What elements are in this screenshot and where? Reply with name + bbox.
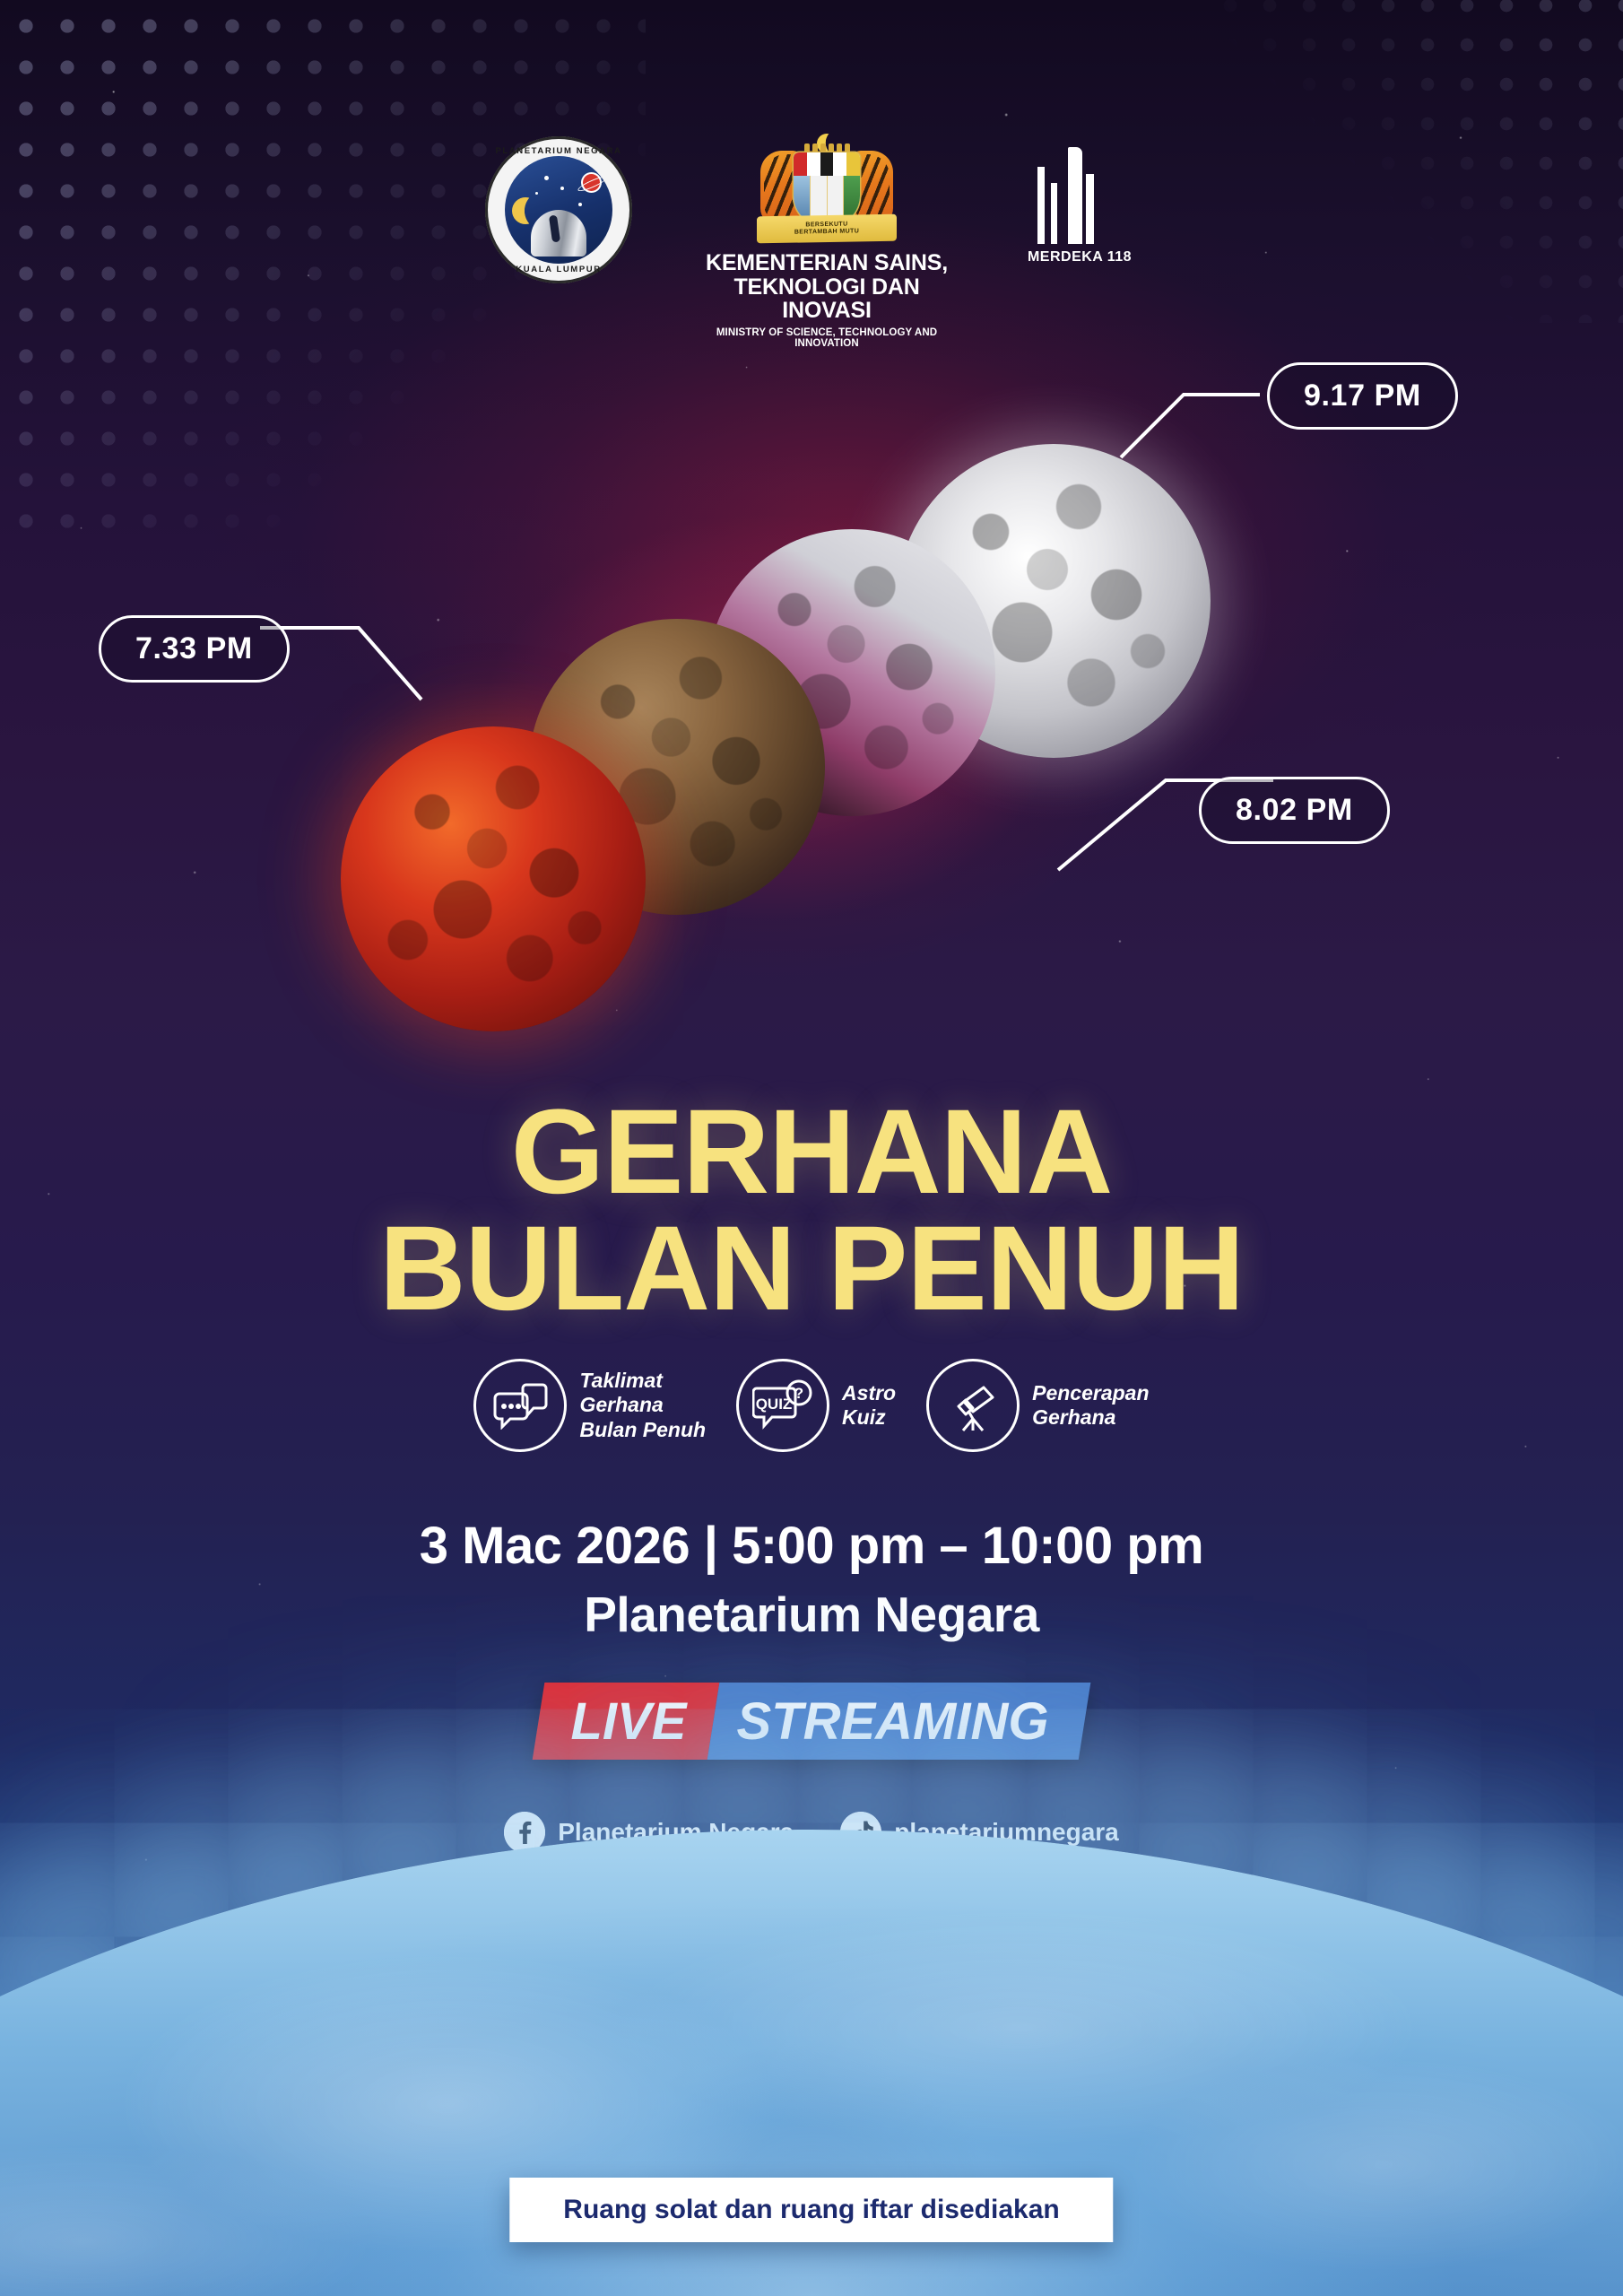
live-streaming-banner: LIVE STREAMING — [533, 1683, 1091, 1760]
masjid-al-sultan-abdullah-icon: مسجد السلطان عبد الله — [878, 1948, 1066, 2041]
activity-item-pencerapan: Pencerapan Gerhana — [926, 1359, 1149, 1452]
eclipse-event-poster: PLANETARIUM NEGARA KUALA LUMPUR — [0, 0, 1623, 2296]
partner-masjid-al-sultan-abdullah: مسجد السلطان عبد الله MASJID AL-SULTAN A… — [878, 1948, 1066, 2091]
tiktok-icon[interactable] — [840, 1812, 881, 1853]
eclipse-time-pill-802pm: 8.02 PM — [1199, 777, 1390, 844]
streaming-label: STREAMING — [736, 1692, 1048, 1752]
merdeka-118-tower-icon — [1021, 143, 1138, 244]
planetarium-negara-seal-icon: PLANETARIUM NEGARA KUALA LUMPUR — [485, 136, 632, 283]
masjid-name: MASJID AL-SULTAN ABDULLAH — [878, 2041, 1066, 2072]
poster-title: GERHANA BULAN PENUH — [0, 1096, 1623, 1326]
title-line-1: GERHANA — [0, 1096, 1623, 1209]
eclipse-time-pill-733pm: 7.33 PM — [99, 615, 290, 683]
partner-dark-sky-malaysia: DARK SKY MALAYSIA — [557, 1948, 691, 2077]
tiktok-handle[interactable]: planetariumnegara — [894, 1818, 1119, 1847]
dark-sky-malaysia-icon: DARK SKY MALAYSIA — [567, 1948, 681, 2077]
social-facebook[interactable]: Planetarium Negara — [504, 1812, 794, 1853]
dark-sky-line-1: DARK SKY — [615, 2031, 676, 2044]
ministry-name-malay: KEMENTERIAN SAINS, TEKNOLOGI DAN INOVASI — [688, 251, 966, 323]
moon-phase-blood-red — [341, 726, 646, 1031]
planetarium-negara-logo: PLANETARIUM NEGARA KUALA LUMPUR — [485, 136, 632, 283]
seal-bottom-text: KUALA LUMPUR — [485, 265, 632, 274]
streaming-badge: STREAMING — [707, 1683, 1091, 1760]
ministry-name-english: MINISTRY OF SCIENCE, TECHNOLOGY AND INNO… — [688, 327, 966, 349]
jata-negara-coat-of-arms-icon: BERSEKUTU BERTAMBAH MUTU — [751, 136, 902, 244]
live-label: LIVE — [571, 1692, 687, 1752]
partner-jabatan-mufti: JABATAN MUFTI WILAYAH PERSEKUTUAN — [722, 1948, 847, 2063]
merdeka-118-logo: MERDEKA 118 — [1021, 136, 1138, 265]
kementerian-sains-teknologi-inovasi-logo: BERSEKUTU BERTAMBAH MUTU KEMENTERIAN SAI… — [688, 136, 966, 349]
title-line-2: BULAN PENUH — [0, 1213, 1623, 1326]
seal-top-text: PLANETARIUM NEGARA — [485, 146, 632, 156]
quiz-icon: QUIZ ? — [736, 1359, 829, 1452]
partners-heading: Dengan kerjasama — [0, 1897, 1623, 1923]
event-datetime: 3 Mac 2026 | 5:00 pm – 10:00 pm — [0, 1516, 1623, 1576]
activity-label-astro-kuiz: Astro Kuiz — [842, 1381, 896, 1430]
social-media-handles: Planetarium Negara planetariumnegara — [0, 1812, 1623, 1853]
activities-list: Taklimat Gerhana Bulan Penuh QUIZ ? Astr… — [0, 1359, 1623, 1452]
live-badge: LIVE — [533, 1683, 720, 1760]
eclipse-time-pill-917pm: 9.17 PM — [1267, 362, 1458, 430]
merdeka-118-label: MERDEKA 118 — [1021, 249, 1138, 265]
partner-logo-row: DARK SKY MALAYSIA JABATAN MUFTI WILAYAH … — [0, 1948, 1623, 2091]
activity-item-taklimat: Taklimat Gerhana Bulan Penuh — [473, 1359, 706, 1452]
speech-bubbles-icon — [473, 1359, 567, 1452]
facebook-icon[interactable] — [504, 1812, 545, 1853]
masjid-location: Presint Merdeka 118 — [901, 2074, 1043, 2089]
telescope-icon — [926, 1359, 1020, 1452]
eclipse-phase-sequence — [0, 359, 1623, 1076]
activity-label-taklimat: Taklimat Gerhana Bulan Penuh — [579, 1369, 706, 1441]
facebook-handle[interactable]: Planetarium Negara — [558, 1818, 794, 1847]
svg-text:QUIZ: QUIZ — [756, 1396, 793, 1413]
organizer-logo-bar: PLANETARIUM NEGARA KUALA LUMPUR — [0, 136, 1623, 349]
jata-ribbon-bottom-text: BERTAMBAH MUTU — [794, 228, 859, 236]
jabatan-mufti-icon — [718, 1928, 850, 2060]
social-tiktok[interactable]: planetariumnegara — [840, 1812, 1119, 1853]
svg-text:?: ? — [794, 1385, 803, 1402]
activity-item-astro-kuiz: QUIZ ? Astro Kuiz — [736, 1359, 896, 1452]
facilities-notice-banner: Ruang solat dan ruang iftar disediakan — [509, 2178, 1113, 2242]
activity-label-pencerapan: Pencerapan Gerhana — [1032, 1381, 1149, 1430]
event-venue: Planetarium Negara — [0, 1586, 1623, 1643]
masjid-arabic-name: مسجد السلطان عبد الله — [878, 1952, 1063, 1998]
dark-sky-line-2: MALAYSIA — [615, 2045, 676, 2057]
